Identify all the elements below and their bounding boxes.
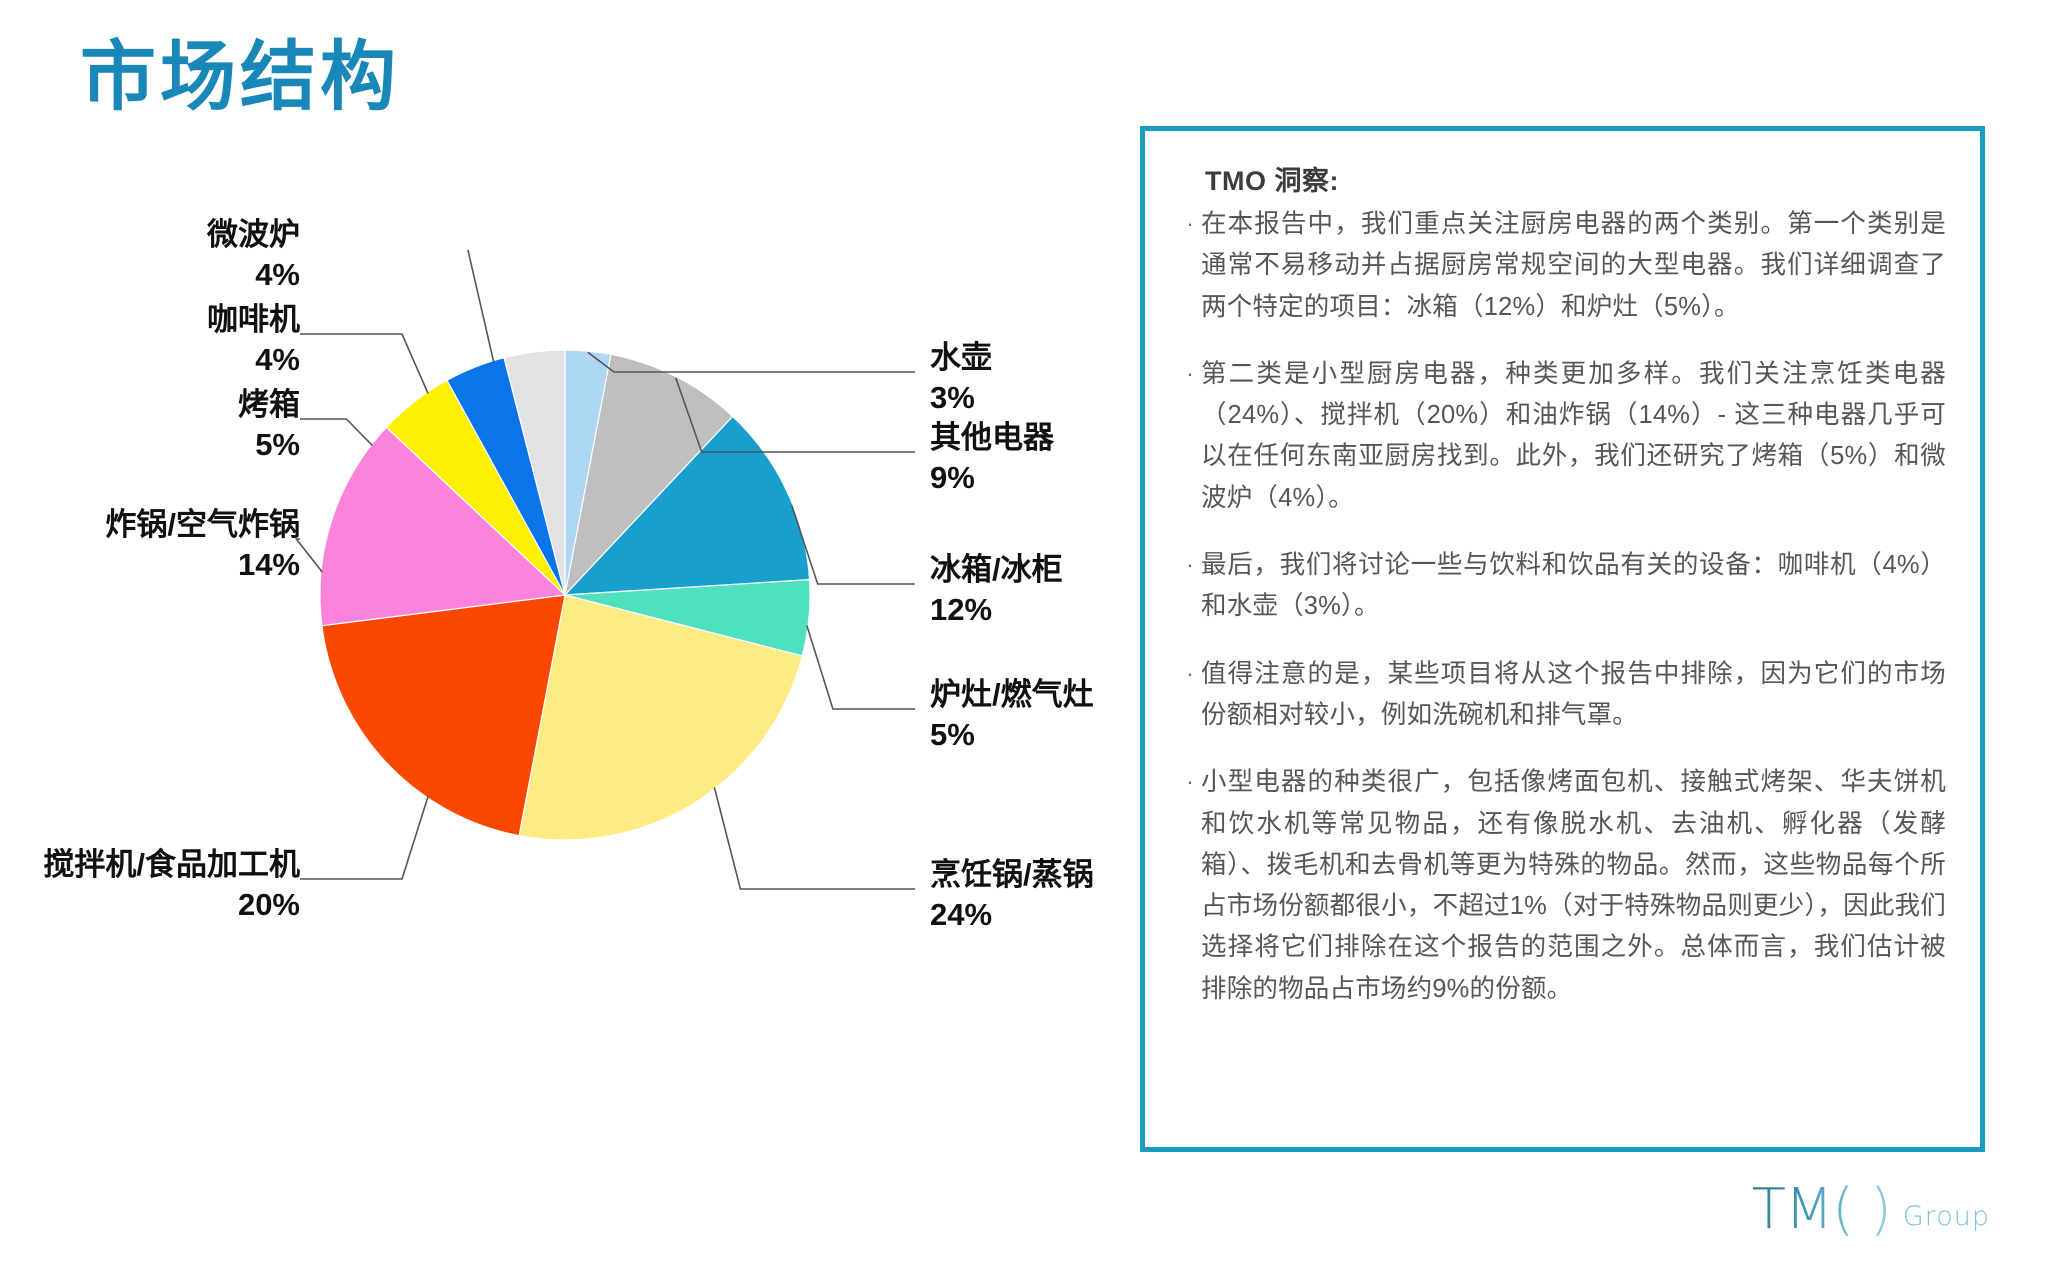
insight-bullet-list: ·在本报告中，我们重点关注厨房电器的两个类别。第一个类别是通常不易移动并占据厨房… (1179, 204, 1946, 1010)
pie-leader-line (300, 419, 372, 446)
pie-label-fryer-name: 炸锅/空气炸锅 (105, 507, 300, 542)
pie-label-cooking-pot-value: 24% (930, 895, 1094, 935)
tmo-logo-mark: TM( ) (1752, 1182, 1891, 1238)
pie-label-fryer: 炸锅/空气炸锅 14% (0, 505, 300, 584)
insight-bullet: ·第二类是小型厨房电器，种类更加多样。我们关注烹饪类电器（24%）、搅拌机（20… (1179, 354, 1946, 519)
bullet-dot-icon: · (1179, 545, 1201, 583)
pie-label-fryer-value: 14% (0, 545, 300, 585)
pie-leader-line (792, 505, 915, 584)
pie-label-microwave-name: 微波炉 (207, 217, 300, 252)
page-title: 市场结构 (80, 36, 400, 120)
pie-label-coffee-machine-name: 咖啡机 (207, 302, 300, 337)
bullet-dot-icon: · (1179, 204, 1201, 242)
bullet-dot-icon: · (1179, 762, 1201, 800)
pie-label-microwave: 微波炉 4% (20, 215, 300, 294)
pie-label-coffee-machine-value: 4% (20, 340, 300, 380)
tmo-logo-word: Group (1903, 1203, 1990, 1238)
pie-label-blender-name: 搅拌机/食品加工机 (43, 847, 300, 882)
insight-bullet: ·在本报告中，我们重点关注厨房电器的两个类别。第一个类别是通常不易移动并占据厨房… (1179, 204, 1946, 328)
pie-label-refrigerator: 冰箱/冰柜 12% (930, 550, 1063, 629)
insight-bullet: ·最后，我们将讨论一些与饮料和饮品有关的设备：咖啡机（4%）和水壶（3%）。 (1179, 545, 1946, 628)
insight-bullet: ·小型电器的种类很广，包括像烤面包机、接触式烤架、华夫饼机和饮水机等常见物品，还… (1179, 762, 1946, 1010)
pie-label-kettle: 水壶 3% (930, 338, 992, 417)
pie-leader-line (300, 797, 428, 879)
pie-leader-line (296, 539, 322, 572)
pie-label-microwave-value: 4% (20, 255, 300, 295)
pie-label-kettle-value: 3% (930, 378, 992, 418)
pie-label-blender-value: 20% (0, 885, 300, 925)
pie-leader-line (714, 788, 915, 889)
pie-label-refrigerator-name: 冰箱/冰柜 (930, 552, 1063, 587)
pie-label-oven: 烤箱 5% (20, 385, 300, 464)
pie-leader-line (300, 334, 428, 393)
pie-label-oven-name: 烤箱 (238, 387, 300, 422)
insight-heading: TMO 洞察: (1205, 159, 1946, 198)
pie-label-coffee-machine: 咖啡机 4% (20, 300, 300, 379)
insight-bullet-text: 第二类是小型厨房电器，种类更加多样。我们关注烹饪类电器（24%）、搅拌机（20%… (1201, 354, 1946, 519)
pie-label-other-appliances-name: 其他电器 (930, 420, 1054, 455)
pie-label-cooking-pot: 烹饪锅/蒸锅 24% (930, 855, 1094, 934)
insight-bullet-text: 小型电器的种类很广，包括像烤面包机、接触式烤架、华夫饼机和饮水机等常见物品，还有… (1201, 762, 1946, 1010)
bullet-dot-icon: · (1179, 654, 1201, 692)
bullet-dot-icon: · (1179, 354, 1201, 392)
pie-chart: 微波炉 4% 咖啡机 4% 烤箱 5% 炸锅/空气炸锅 14% 搅拌机/食品加工… (0, 250, 1130, 970)
pie-leader-line (807, 626, 915, 709)
pie-label-oven-value: 5% (20, 425, 300, 465)
pie-label-refrigerator-value: 12% (930, 590, 1063, 630)
pie-label-other-appliances: 其他电器 9% (930, 418, 1054, 497)
pie-label-stove-name: 炉灶/燃气灶 (930, 677, 1094, 712)
insight-bullet-text: 最后，我们将讨论一些与饮料和饮品有关的设备：咖啡机（4%）和水壶（3%）。 (1201, 545, 1946, 628)
insight-bullet-text: 在本报告中，我们重点关注厨房电器的两个类别。第一个类别是通常不易移动并占据厨房常… (1201, 204, 1946, 328)
pie-slices (320, 350, 810, 840)
pie-label-other-appliances-value: 9% (930, 458, 1054, 498)
tmo-group-logo: TM( ) Group (1752, 1182, 1990, 1238)
pie-label-stove: 炉灶/燃气灶 5% (930, 675, 1094, 754)
pie-label-blender: 搅拌机/食品加工机 20% (0, 845, 300, 924)
insight-bullet: ·值得注意的是，某些项目将从这个报告中排除，因为它们的市场份额相对较小，例如洗碗… (1179, 654, 1946, 737)
pie-label-cooking-pot-name: 烹饪锅/蒸锅 (930, 857, 1094, 892)
insight-bullet-text: 值得注意的是，某些项目将从这个报告中排除，因为它们的市场份额相对较小，例如洗碗机… (1201, 654, 1946, 737)
pie-label-stove-value: 5% (930, 715, 1094, 755)
insight-panel: TMO 洞察: ·在本报告中，我们重点关注厨房电器的两个类别。第一个类别是通常不… (1140, 126, 1985, 1152)
pie-label-kettle-name: 水壶 (930, 340, 992, 375)
pie-leader-line (300, 250, 494, 362)
